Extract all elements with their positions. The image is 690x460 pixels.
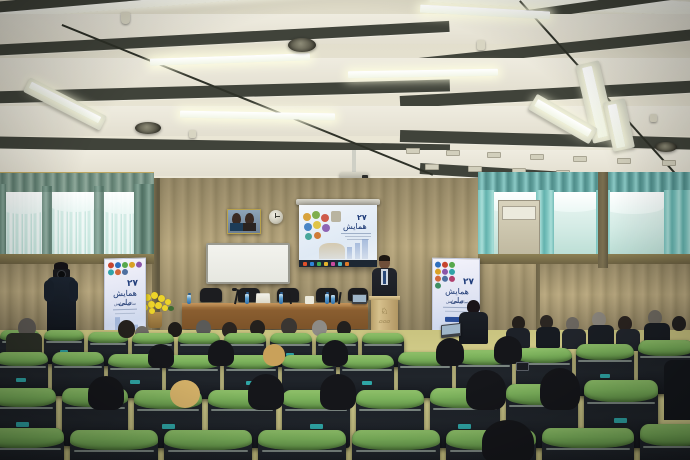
ceiling-projector [352,150,356,174]
podium-emblem: ♘▱▱▱ [376,308,393,326]
audience-head [118,320,135,338]
audience-head-hijab [494,336,522,364]
microphone [232,288,237,291]
sprinkler-head [650,114,657,122]
audience-body [664,360,690,420]
slide-number: ۲۷ [357,213,367,222]
audience-seat[interactable] [352,430,440,460]
curtain-panel [42,186,52,258]
audience-seat[interactable] [542,428,634,460]
leader-portraits [227,209,261,234]
banner-left-number: ۲۷ [127,279,138,289]
banner-right-number: ۲۷ [463,277,474,287]
water-bottle [245,294,249,304]
slide-taskbar [299,260,377,267]
right-window-bank [478,172,690,272]
sprinkler-head [189,130,196,138]
curtain-panel [664,190,690,256]
curtain-panel [134,184,154,262]
audience-head [263,344,285,366]
audience-head [170,380,200,408]
audience-head-hijab [540,368,580,410]
curtain-valance [478,172,690,194]
audience-head-hijab [148,344,174,368]
audience-head-hijab [482,420,534,460]
water-bottle [279,294,283,304]
whiteboard[interactable] [206,243,290,284]
smartphone[interactable] [516,362,529,371]
ceiling-air-vent [288,38,316,52]
audience-head-hijab [208,340,234,366]
ceiling-air-vent [135,122,161,134]
wall-clock [269,210,283,224]
presenter [370,256,398,300]
water-bottle [187,295,191,304]
wall-column [598,172,608,268]
projection-screen[interactable]: ۲۷ همایش [299,205,377,267]
curtain-panel [0,184,6,260]
sprinkler-head [121,12,130,24]
left-window-bank [0,170,154,266]
audience-body [536,327,560,348]
water-bottle [325,294,329,304]
curtain-panel [94,186,104,258]
curtain-panel [478,190,494,254]
audience-head-hijab [322,340,348,366]
audience-head-hijab [88,376,124,410]
audience-head-hijab [248,374,284,410]
audience-head-hijab [320,374,356,410]
ceiling [0,0,690,196]
banner-left-subtitle: سالن همایش [109,301,141,307]
conference-hall-photo: ۲۷ همایش ♘▱▱▱ [0,0,690,460]
audience-seat[interactable] [70,430,158,460]
audience-seat[interactable] [258,430,346,460]
audience-seat[interactable] [164,430,252,460]
name-card [256,293,271,303]
audience-head [672,316,686,331]
attendee-body [459,312,488,344]
audience-head-hijab [436,338,464,366]
flower-vase [148,312,162,328]
slide-title: همایش [343,222,367,231]
water-bottle [331,295,335,304]
tissue-box [305,296,314,304]
ceiling-air-vent [655,142,677,152]
photographer [44,262,78,334]
sprinkler-head [477,40,485,50]
audience-seat[interactable] [640,424,690,460]
panel-chair[interactable] [200,288,222,302]
audience-head-hijab [466,370,506,410]
audience-seat[interactable] [0,428,64,460]
